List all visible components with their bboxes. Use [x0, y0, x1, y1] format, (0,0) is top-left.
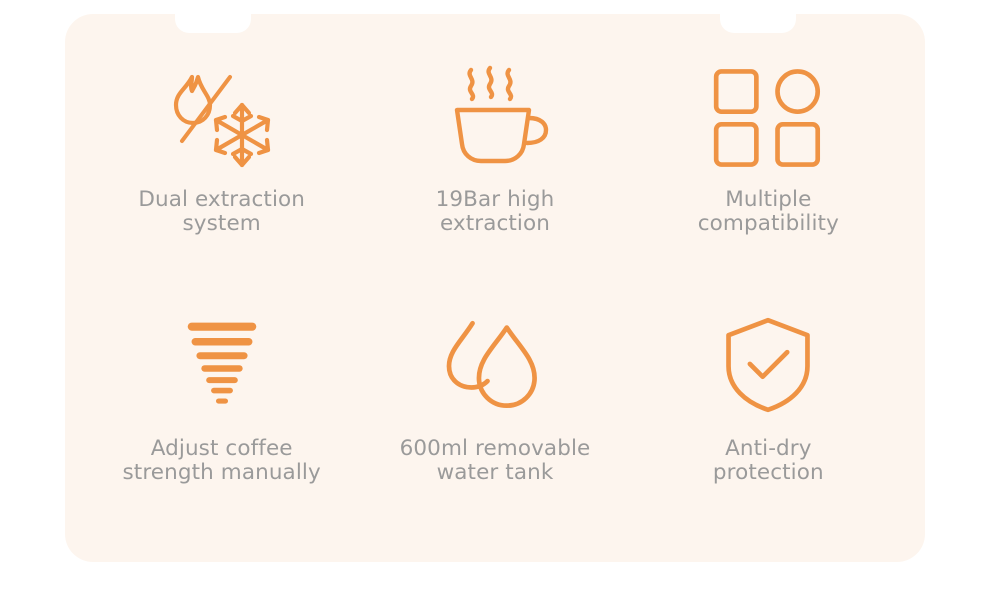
feature-highlights-panel: Dual extraction system 19Bar high extrac… [0, 0, 990, 602]
feature-label: Multiple compatibility [698, 188, 839, 236]
four-squares-and-circle-icon [713, 62, 823, 174]
feature-grid: Dual extraction system 19Bar high extrac… [65, 14, 925, 562]
feature-label: Adjust coffee strength manually [123, 437, 321, 485]
feature-label: Anti-dry protection [713, 437, 824, 485]
feature-label: 19Bar high extraction [436, 188, 555, 236]
strength-bars-icon [185, 309, 259, 421]
flame-and-snowflake-icon [152, 62, 292, 174]
feature-label: 600ml removable water tank [400, 437, 591, 485]
two-water-drops-icon [442, 309, 548, 421]
feature-item-multiple-compatibility: Multiple compatibility [632, 62, 905, 291]
feature-item-adjust-strength: Adjust coffee strength manually [85, 291, 358, 520]
feature-label: Dual extraction system [138, 188, 305, 236]
feature-item-anti-dry-protection: Anti-dry protection [632, 291, 905, 520]
feature-item-19bar-extraction: 19Bar high extraction [358, 62, 631, 291]
shield-with-check-icon [722, 309, 814, 421]
coffee-cup-with-steam-icon [435, 62, 555, 174]
feature-item-dual-extraction: Dual extraction system [85, 62, 358, 291]
feature-item-water-tank: 600ml removable water tank [358, 291, 631, 520]
